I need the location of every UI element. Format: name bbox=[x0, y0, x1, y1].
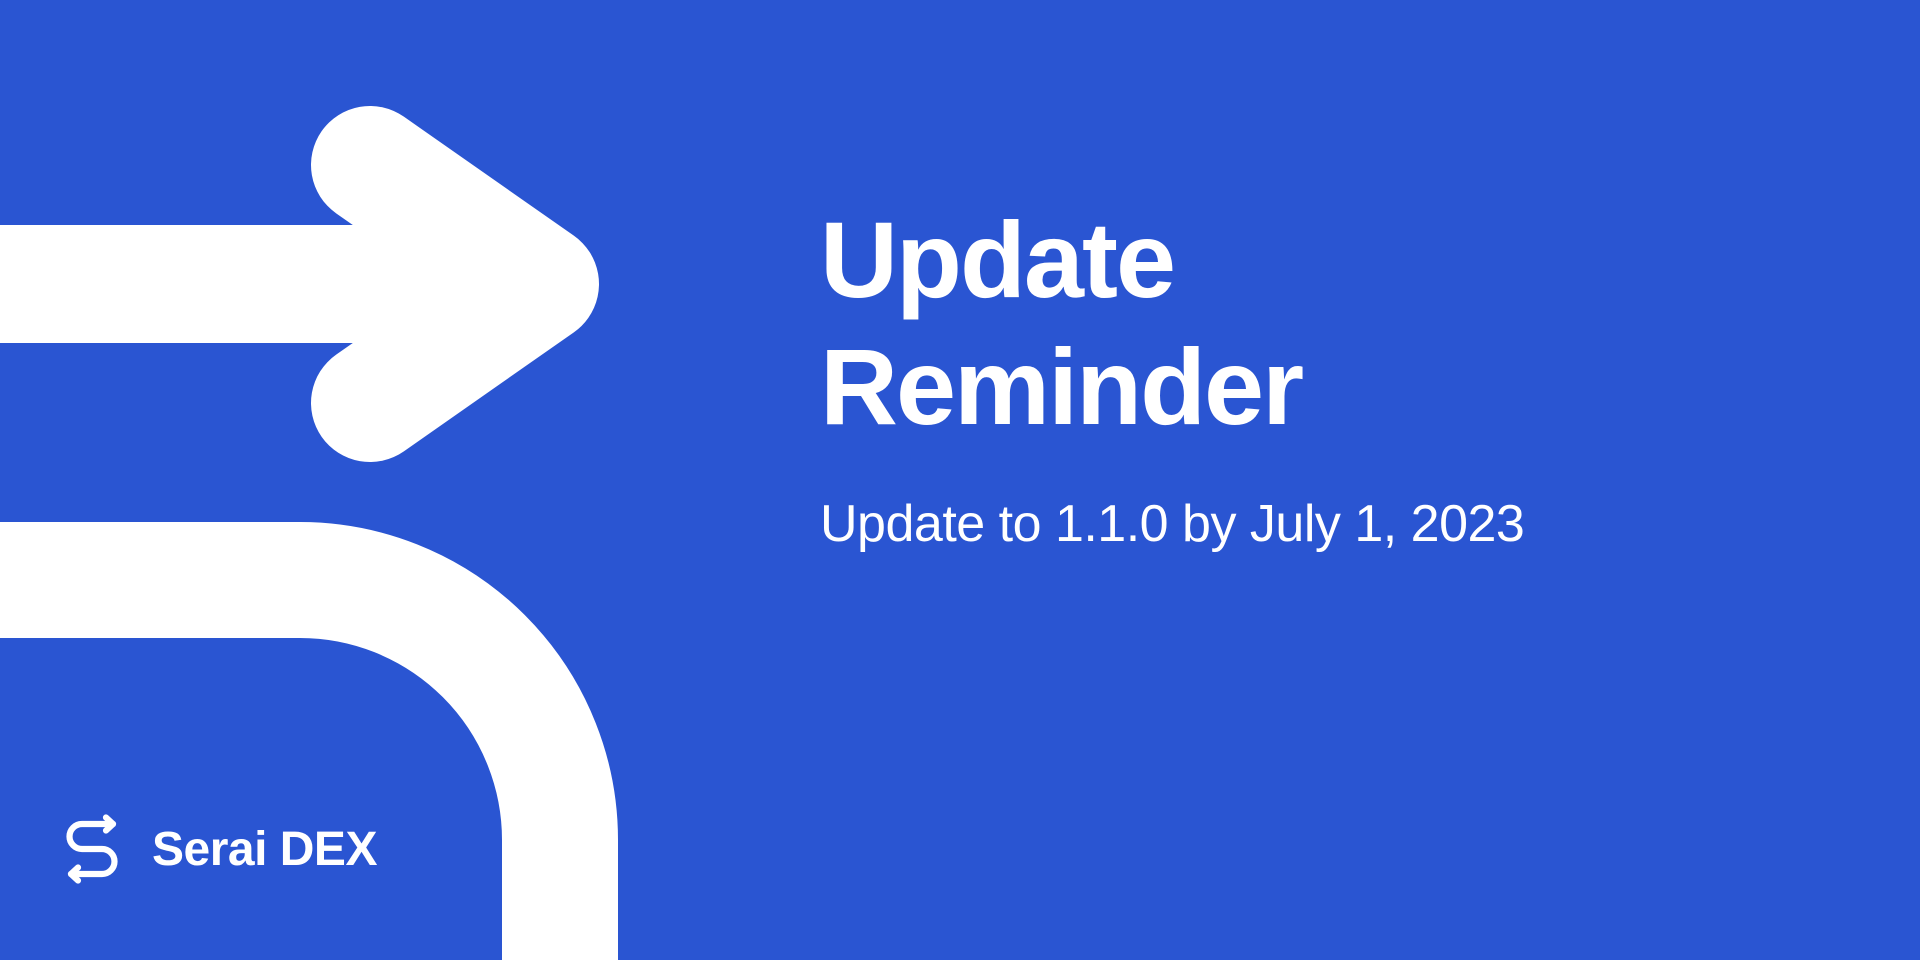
update-reminder-banner: Update Reminder Update to 1.1.0 by July … bbox=[0, 0, 1920, 960]
arrow-right-icon bbox=[0, 165, 540, 403]
banner-text-block: Update Reminder Update to 1.1.0 by July … bbox=[820, 196, 1800, 555]
banner-subtitle: Update to 1.1.0 by July 1, 2023 bbox=[820, 451, 1800, 555]
rounded-corner-band-shape bbox=[0, 580, 560, 960]
page-title: Update Reminder bbox=[820, 196, 1800, 451]
swap-arrows-s-icon bbox=[56, 812, 130, 886]
brand-lockup: Serai DEX bbox=[56, 812, 377, 886]
brand-name: Serai DEX bbox=[152, 822, 377, 877]
